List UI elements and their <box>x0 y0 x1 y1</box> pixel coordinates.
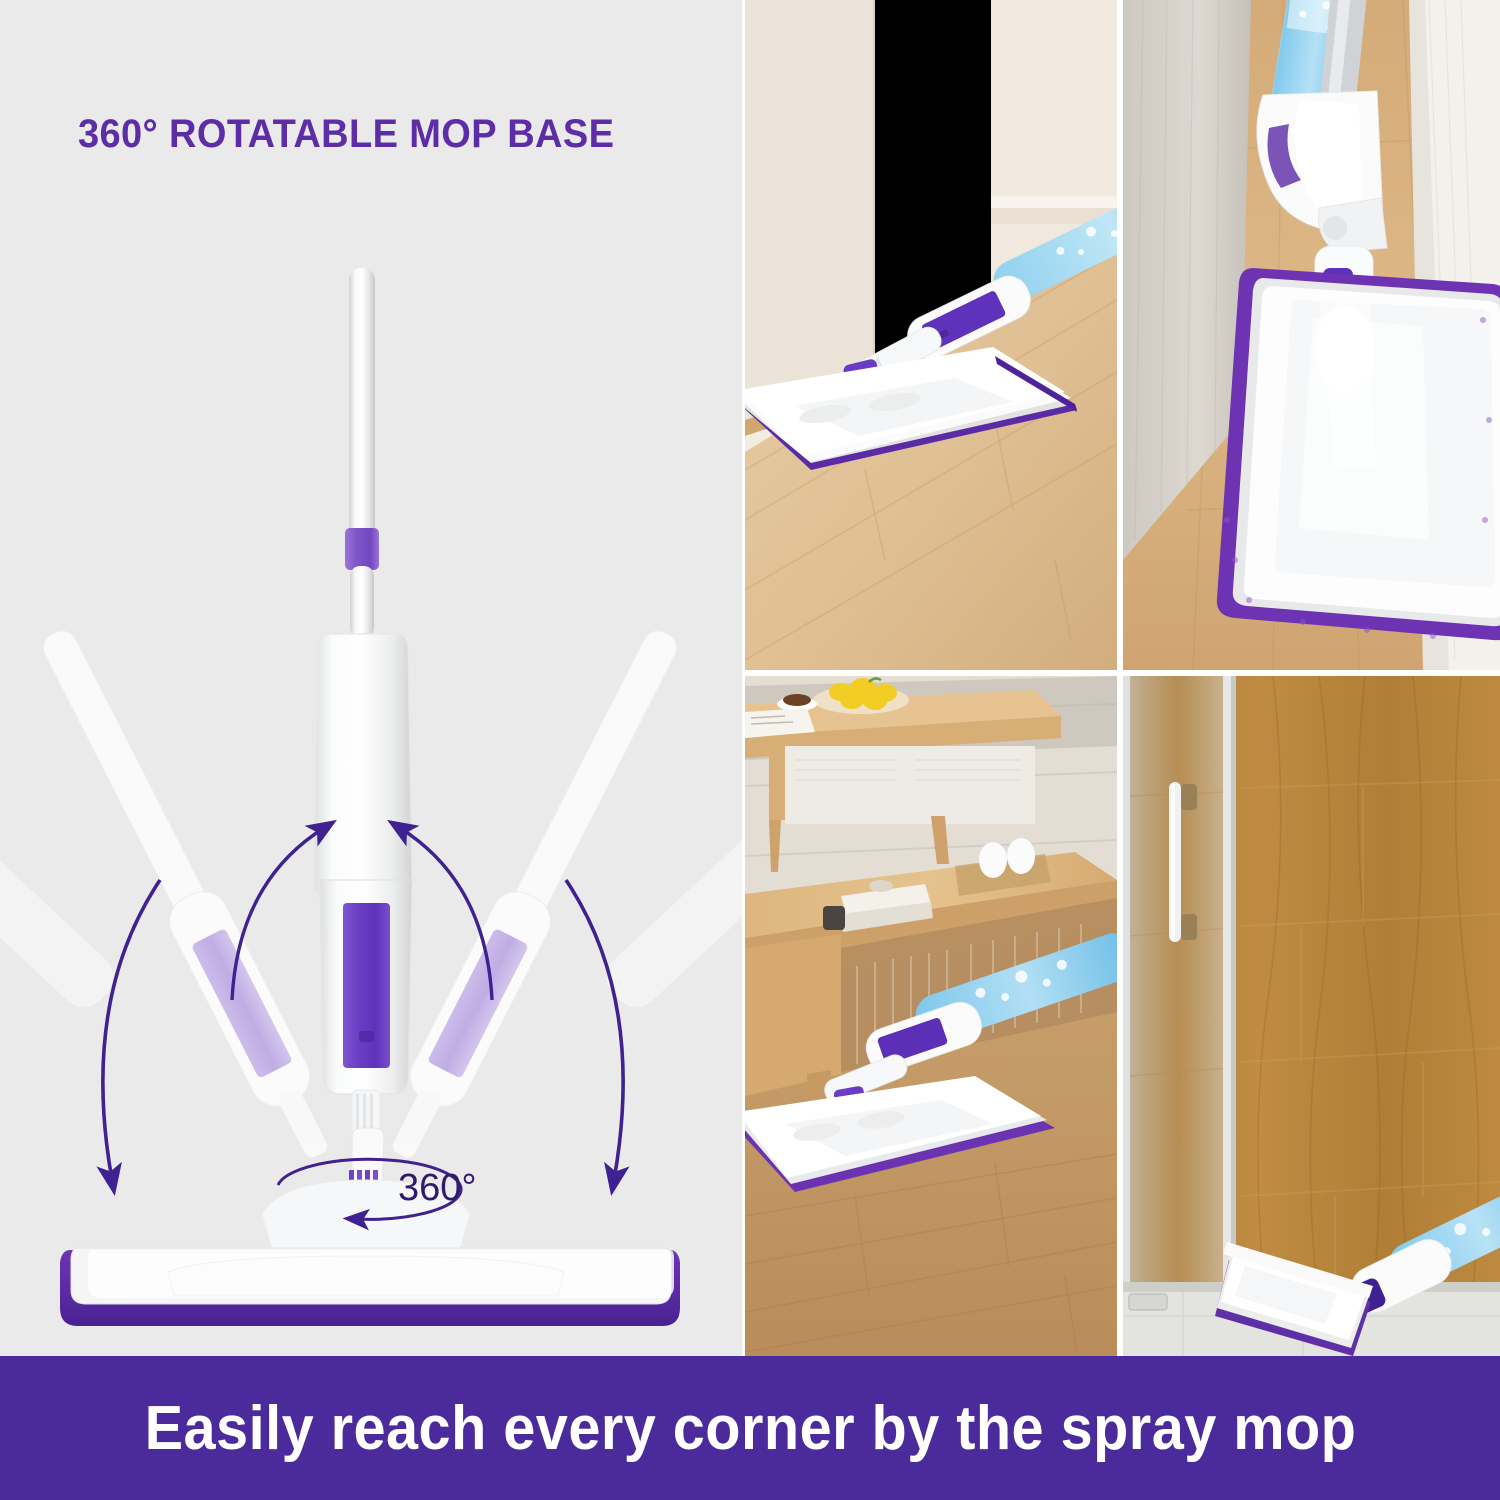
mop-pole-upper <box>349 268 375 540</box>
arc-arrow-right-outer <box>566 880 623 1180</box>
ghost-mop-right-inner <box>374 620 693 1168</box>
photo-under-cabinet <box>745 0 1117 670</box>
banner-headline: Easily reach every corner by the spray m… <box>144 1393 1356 1464</box>
photo-under-coffee-table <box>745 676 1117 1356</box>
ghost-mop-left-outer <box>0 546 123 1017</box>
photo-mop-head-closeup <box>1123 0 1500 670</box>
ghost-mop-right-outer <box>597 546 742 1017</box>
rotation-label: 360° <box>398 1167 477 1209</box>
product-photo-grid <box>742 0 1500 1356</box>
mop-pole-lower <box>350 566 374 638</box>
arc-arrow-left-outer <box>103 880 160 1180</box>
pole-collar <box>345 528 379 570</box>
grip-panel <box>343 903 390 1068</box>
mop-rotation-diagram: 360° <box>0 0 742 1356</box>
grip-button <box>359 1031 374 1042</box>
bottom-banner: Easily reach every corner by the spray m… <box>0 1356 1500 1500</box>
ghost-mop-left-inner <box>27 620 346 1168</box>
water-tank <box>314 634 412 900</box>
rotation-diagram-panel: 360° ROTATABLE MOP BASE <box>0 0 742 1356</box>
photo-shower-wall <box>1123 676 1500 1356</box>
infographic-stage: 360° ROTATABLE MOP BASE <box>0 0 1500 1500</box>
